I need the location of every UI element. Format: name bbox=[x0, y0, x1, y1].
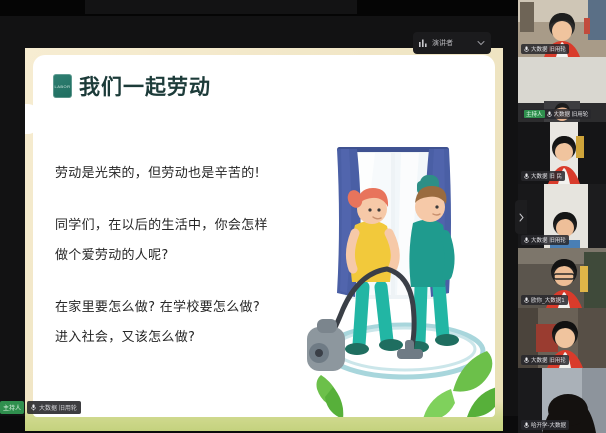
layout-dropdown-label: 演讲者 bbox=[432, 38, 472, 48]
microphone-icon bbox=[524, 422, 529, 429]
self-name-text: 大数据 旧用轮 bbox=[39, 403, 77, 412]
participant-tile[interactable]: 哈开学-大数据 bbox=[518, 368, 606, 433]
app-root: LABOR 我们一起劳动 劳动是光荣的，但劳动也是辛苦的! 同学们，在以后的生活… bbox=[0, 0, 606, 433]
participant-name: 大数据 旧用轮 bbox=[531, 236, 566, 244]
slide-paragraph-2: 同学们，在以后的生活中，你会怎样 bbox=[55, 211, 287, 241]
participant-name: 大数据 旧用轮 bbox=[531, 45, 566, 53]
slide-paragraph-1: 劳动是光荣的，但劳动也是辛苦的! bbox=[55, 159, 287, 189]
slide-paragraph-4: 在家里要怎么做? 在学校要怎么做? bbox=[55, 293, 287, 323]
presentation-slide: LABOR 我们一起劳动 劳动是光荣的，但劳动也是辛苦的! 同学们，在以后的生活… bbox=[33, 55, 495, 417]
slide-left-notch bbox=[25, 104, 38, 134]
screen-share-area: LABOR 我们一起劳动 劳动是光荣的，但劳动也是辛苦的! 同学们，在以后的生活… bbox=[0, 16, 518, 416]
collapse-panel-button[interactable] bbox=[515, 200, 527, 234]
participant-video-strip[interactable]: 大数据 旧用轮 主持人 大数据 旧用轮 bbox=[518, 0, 606, 433]
microphone-icon bbox=[524, 46, 529, 53]
host-role-label: 主持人 bbox=[0, 401, 24, 414]
microphone-icon bbox=[524, 173, 529, 180]
labor-badge-text: LABOR bbox=[54, 84, 70, 89]
host-role-label: 主持人 bbox=[524, 110, 545, 118]
participant-name-badge: 哈开学-大数据 bbox=[521, 420, 569, 430]
participant-name-badge: 大数据 旧 民 bbox=[521, 171, 565, 181]
slide-title-row: LABOR 我们一起劳动 bbox=[53, 71, 211, 101]
participant-name: 欧你_大数据1 bbox=[531, 296, 565, 304]
self-name-pill: 大数据 旧用轮 bbox=[27, 401, 81, 414]
slide-body-text: 劳动是光荣的，但劳动也是辛苦的! 同学们，在以后的生活中，你会怎样 做个爱劳动的… bbox=[55, 159, 287, 353]
microphone-icon bbox=[524, 297, 529, 304]
slide-title: 我们一起劳动 bbox=[79, 71, 211, 101]
paragraph-gap bbox=[55, 271, 287, 293]
labor-badge-icon: LABOR bbox=[53, 74, 72, 98]
participant-tile[interactable]: 欧你_大数据1 bbox=[518, 248, 606, 308]
microphone-icon bbox=[524, 357, 529, 364]
chevron-right-icon bbox=[519, 213, 524, 222]
slide-paragraph-3: 做个爱劳动的人呢? bbox=[55, 241, 287, 271]
participant-tile[interactable]: 大数据 旧用轮 bbox=[518, 0, 606, 57]
participant-tile[interactable]: 主持人 大数据 旧用轮 bbox=[518, 57, 606, 122]
participant-name-badge: 大数据 旧用轮 bbox=[521, 44, 569, 54]
participant-name-badge: 主持人 大数据 旧用轮 bbox=[521, 109, 591, 119]
participant-name-badge: 欧你_大数据1 bbox=[521, 295, 568, 305]
participant-name-badge: 大数据 旧用轮 bbox=[521, 355, 569, 365]
participant-tile[interactable]: 大数据 旧用轮 bbox=[518, 308, 606, 368]
self-participant-badge: 主持人 大数据 旧用轮 bbox=[0, 401, 81, 413]
chevron-down-icon bbox=[477, 40, 485, 46]
participant-name-badge: 大数据 旧用轮 bbox=[521, 235, 569, 245]
top-bar bbox=[0, 0, 606, 16]
participant-name: 大数据 旧 民 bbox=[531, 172, 562, 180]
presentation-slide-frame: LABOR 我们一起劳动 劳动是光荣的，但劳动也是辛苦的! 同学们，在以后的生活… bbox=[25, 48, 503, 431]
participant-name: 大数据 旧用轮 bbox=[554, 110, 589, 118]
microphone-icon bbox=[524, 237, 529, 244]
microphone-icon bbox=[31, 404, 36, 411]
bar-chart-icon bbox=[419, 39, 427, 47]
slide-paragraph-5: 进入社会，又该怎么做? bbox=[55, 323, 287, 353]
participant-tile[interactable]: 大数据 旧 民 bbox=[518, 122, 606, 184]
two-students-cleaning-illustration bbox=[301, 137, 495, 417]
participant-name: 大数据 旧用轮 bbox=[531, 356, 566, 364]
paragraph-gap bbox=[55, 189, 287, 211]
participant-name: 哈开学-大数据 bbox=[531, 421, 566, 429]
participant-tile[interactable]: 大数据 旧用轮 bbox=[518, 184, 606, 248]
layout-dropdown[interactable]: 演讲者 bbox=[413, 32, 491, 54]
top-bar-strip bbox=[85, 0, 357, 14]
microphone-icon bbox=[547, 111, 552, 118]
